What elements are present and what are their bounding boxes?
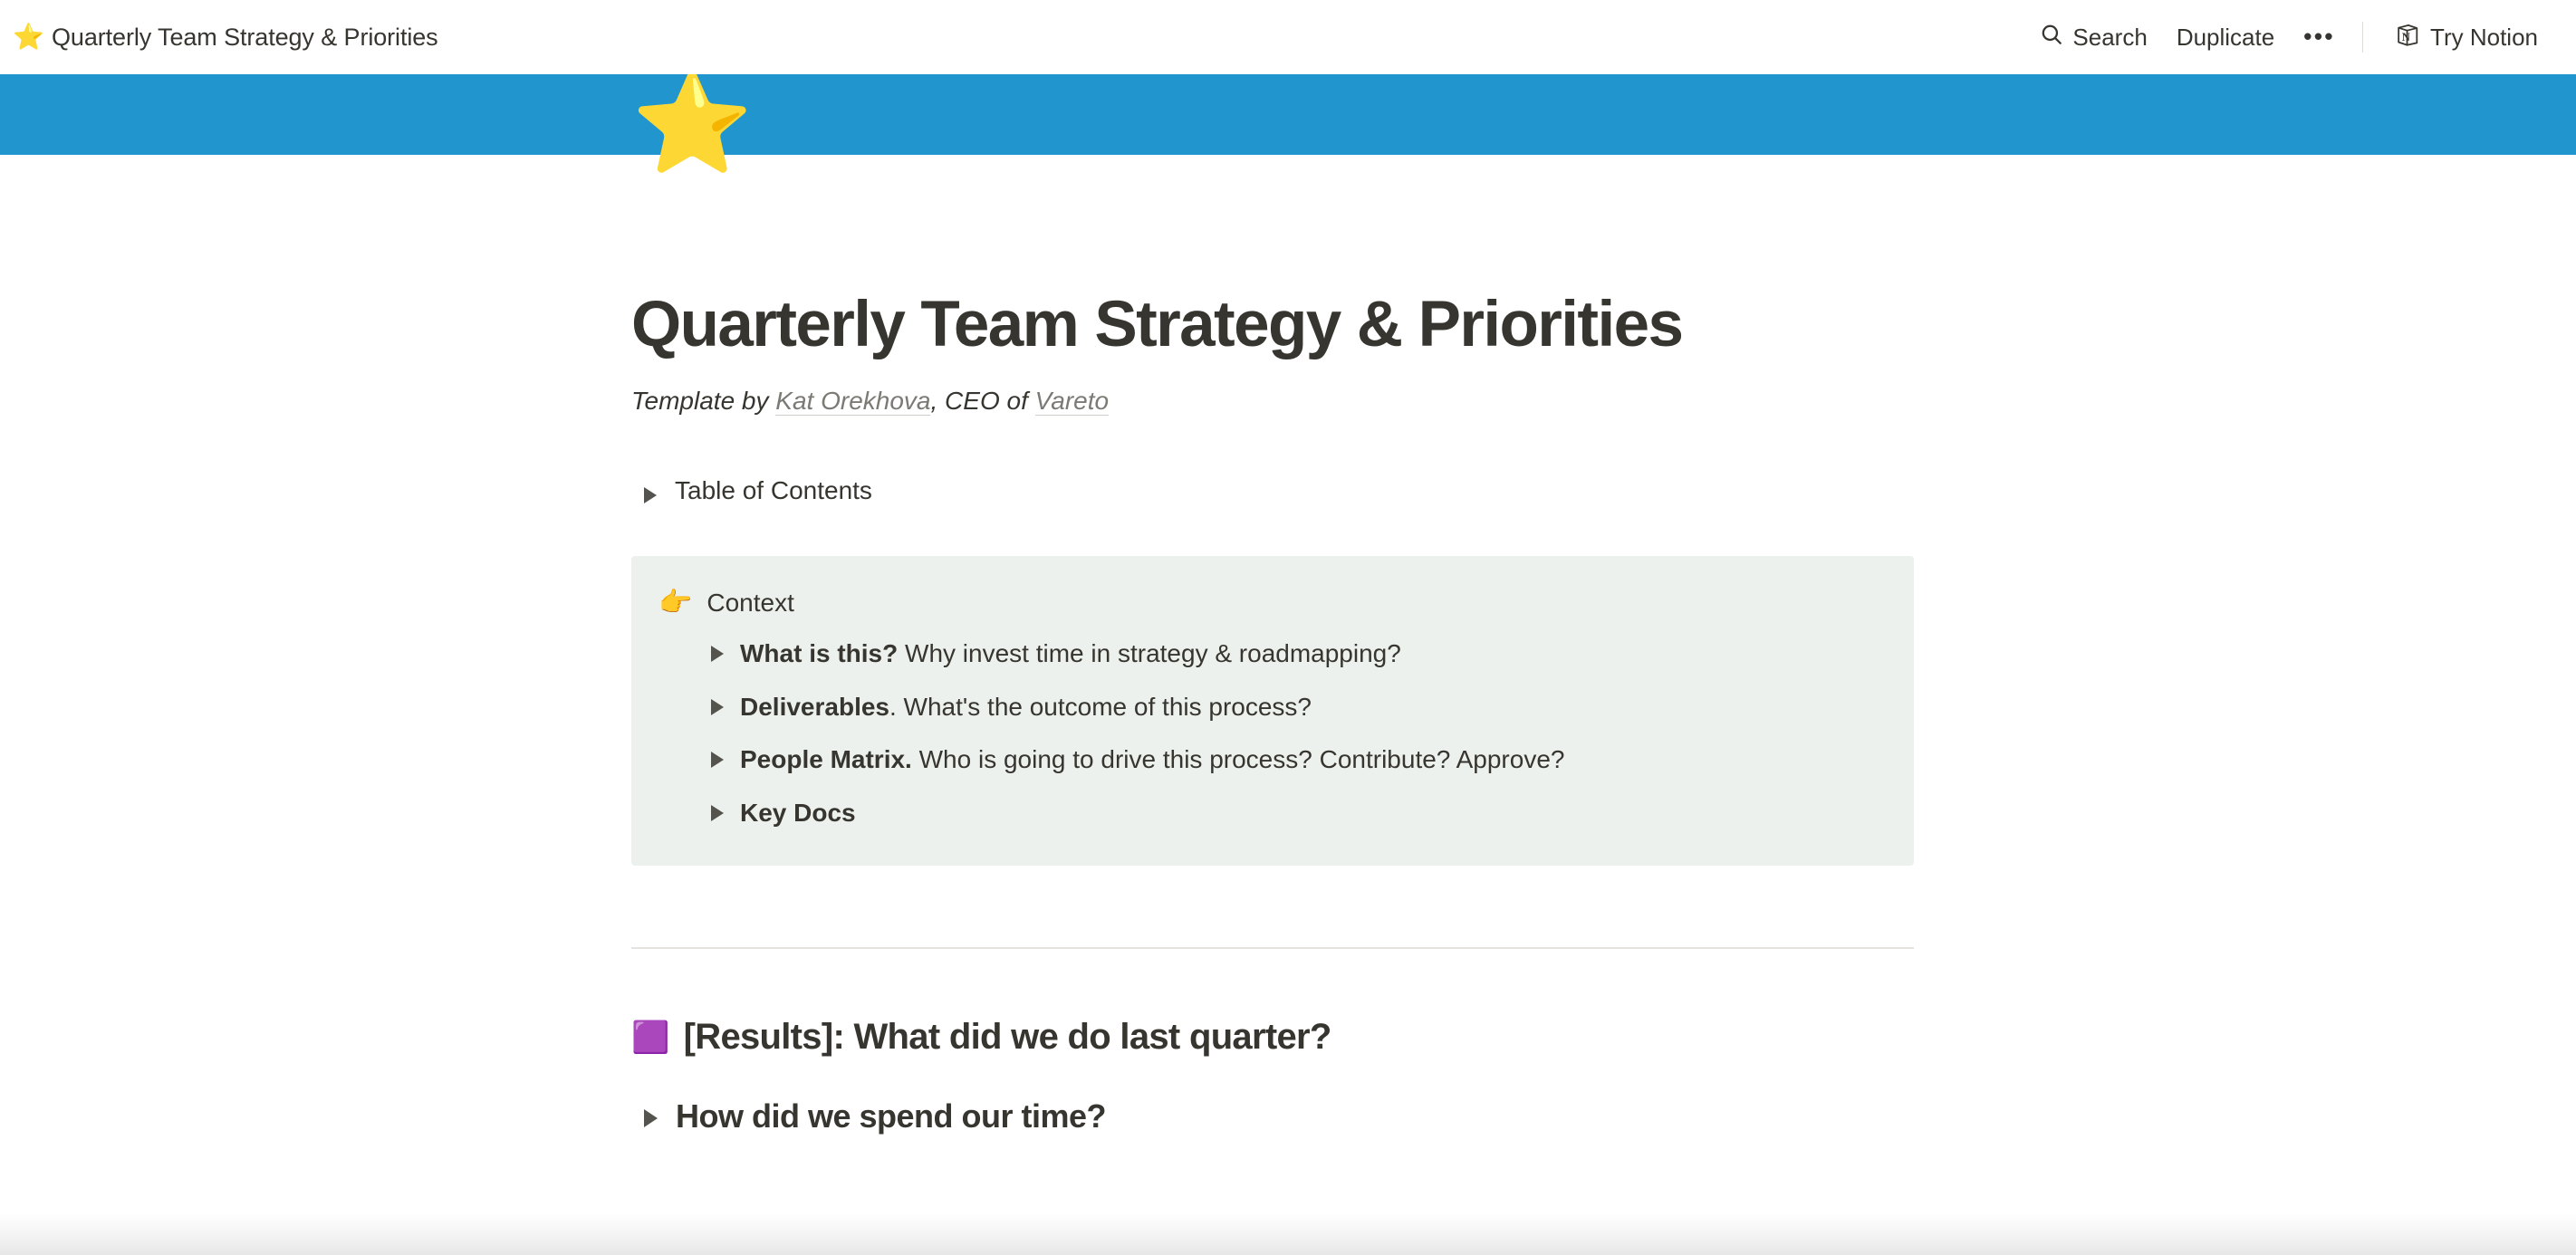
page-body: ⭐ Quarterly Team Strategy & Priorities T… (0, 0, 2576, 1255)
chevron-right-icon[interactable] (711, 805, 724, 821)
callout-item-text: Key Docs (740, 795, 856, 832)
callout-item-text: People Matrix. Who is going to drive thi… (740, 742, 1564, 779)
notion-cube-icon: N (2394, 21, 2421, 54)
section-divider (631, 947, 1914, 949)
topbar-right-group: Search Duplicate ••• N Try Notion (2025, 15, 2552, 60)
callout-item-text: What is this? Why invest time in strateg… (740, 636, 1401, 673)
page-title: Quarterly Team Strategy & Priorities (631, 288, 1914, 362)
duplicate-button[interactable]: Duplicate (2162, 18, 2289, 57)
results-section-heading: 🟪 [Results]: What did we do last quarter… (631, 1017, 1914, 1058)
callout-toggle-item[interactable]: What is this? Why invest time in strateg… (711, 636, 1887, 673)
chevron-right-icon[interactable] (644, 487, 657, 503)
table-of-contents-toggle[interactable]: Table of Contents (631, 476, 1914, 505)
how-did-we-spend-our-time-toggle[interactable]: How did we spend our time? (631, 1097, 1914, 1135)
search-button-label: Search (2072, 24, 2147, 52)
callout-title: Context (706, 587, 794, 619)
callout-header: 👉 Context (658, 587, 1887, 619)
ellipsis-icon: ••• (2303, 26, 2335, 47)
page-icon-star-emoji[interactable]: ⭐ (631, 74, 753, 172)
spend-time-toggle-label: How did we spend our time? (676, 1097, 1106, 1135)
callout-item-bold: What is this? (740, 639, 898, 667)
callout-item-rest: Who is going to drive this process? Cont… (912, 745, 1565, 773)
callout-item-bold: Key Docs (740, 799, 856, 827)
try-notion-label: Try Notion (2430, 24, 2538, 52)
callout-toggle-list: What is this? Why invest time in strateg… (658, 636, 1887, 831)
context-callout-block: 👉 Context What is this? Why invest time … (631, 556, 1914, 867)
chevron-right-icon[interactable] (711, 752, 724, 768)
content-column: Quarterly Team Strategy & Priorities Tem… (631, 288, 1914, 1135)
top-navigation-bar: ⭐ Quarterly Team Strategy & Priorities S… (0, 0, 2576, 74)
svg-text:N: N (2402, 30, 2410, 43)
topbar-document-title: Quarterly Team Strategy & Priorities (52, 24, 438, 52)
callout-item-rest: Why invest time in strategy & roadmappin… (898, 639, 1401, 667)
callout-item-bold: Deliverables (740, 693, 889, 721)
chevron-right-icon[interactable] (711, 646, 724, 662)
chevron-right-icon[interactable] (711, 699, 724, 715)
callout-item-rest: . What's the outcome of this process? (889, 693, 1312, 721)
duplicate-button-label: Duplicate (2177, 24, 2274, 52)
callout-item-text: Deliverables. What's the outcome of this… (740, 689, 1312, 726)
callout-toggle-item[interactable]: Deliverables. What's the outcome of this… (711, 689, 1887, 726)
callout-item-bold: People Matrix. (740, 745, 912, 773)
page-byline: Template by Kat Orekhova, CEO of Vareto (631, 382, 1914, 420)
star-emoji: ⭐ (13, 24, 40, 50)
more-options-button[interactable]: ••• (2289, 21, 2350, 53)
callout-toggle-item[interactable]: People Matrix. Who is going to drive thi… (711, 742, 1887, 779)
byline-prefix: Template by (631, 387, 775, 415)
results-heading-text: [Results]: What did we do last quarter? (684, 1017, 1331, 1058)
table-of-contents-label: Table of Contents (675, 476, 872, 505)
search-button[interactable]: Search (2025, 17, 2161, 58)
pointing-right-emoji: 👉 (658, 587, 692, 619)
toolbar-divider (2362, 22, 2363, 53)
byline-middle: , CEO of (930, 387, 1034, 415)
chevron-right-icon[interactable] (644, 1109, 658, 1127)
callout-toggle-item[interactable]: Key Docs (711, 795, 1887, 832)
topbar-left-group: ⭐ Quarterly Team Strategy & Priorities (13, 24, 438, 52)
purple-square-emoji: 🟪 (631, 1022, 669, 1053)
byline-author-link[interactable]: Kat Orekhova (775, 387, 930, 416)
try-notion-button[interactable]: N Try Notion (2379, 15, 2552, 60)
search-icon (2040, 23, 2063, 53)
byline-company-link[interactable]: Vareto (1035, 387, 1109, 416)
